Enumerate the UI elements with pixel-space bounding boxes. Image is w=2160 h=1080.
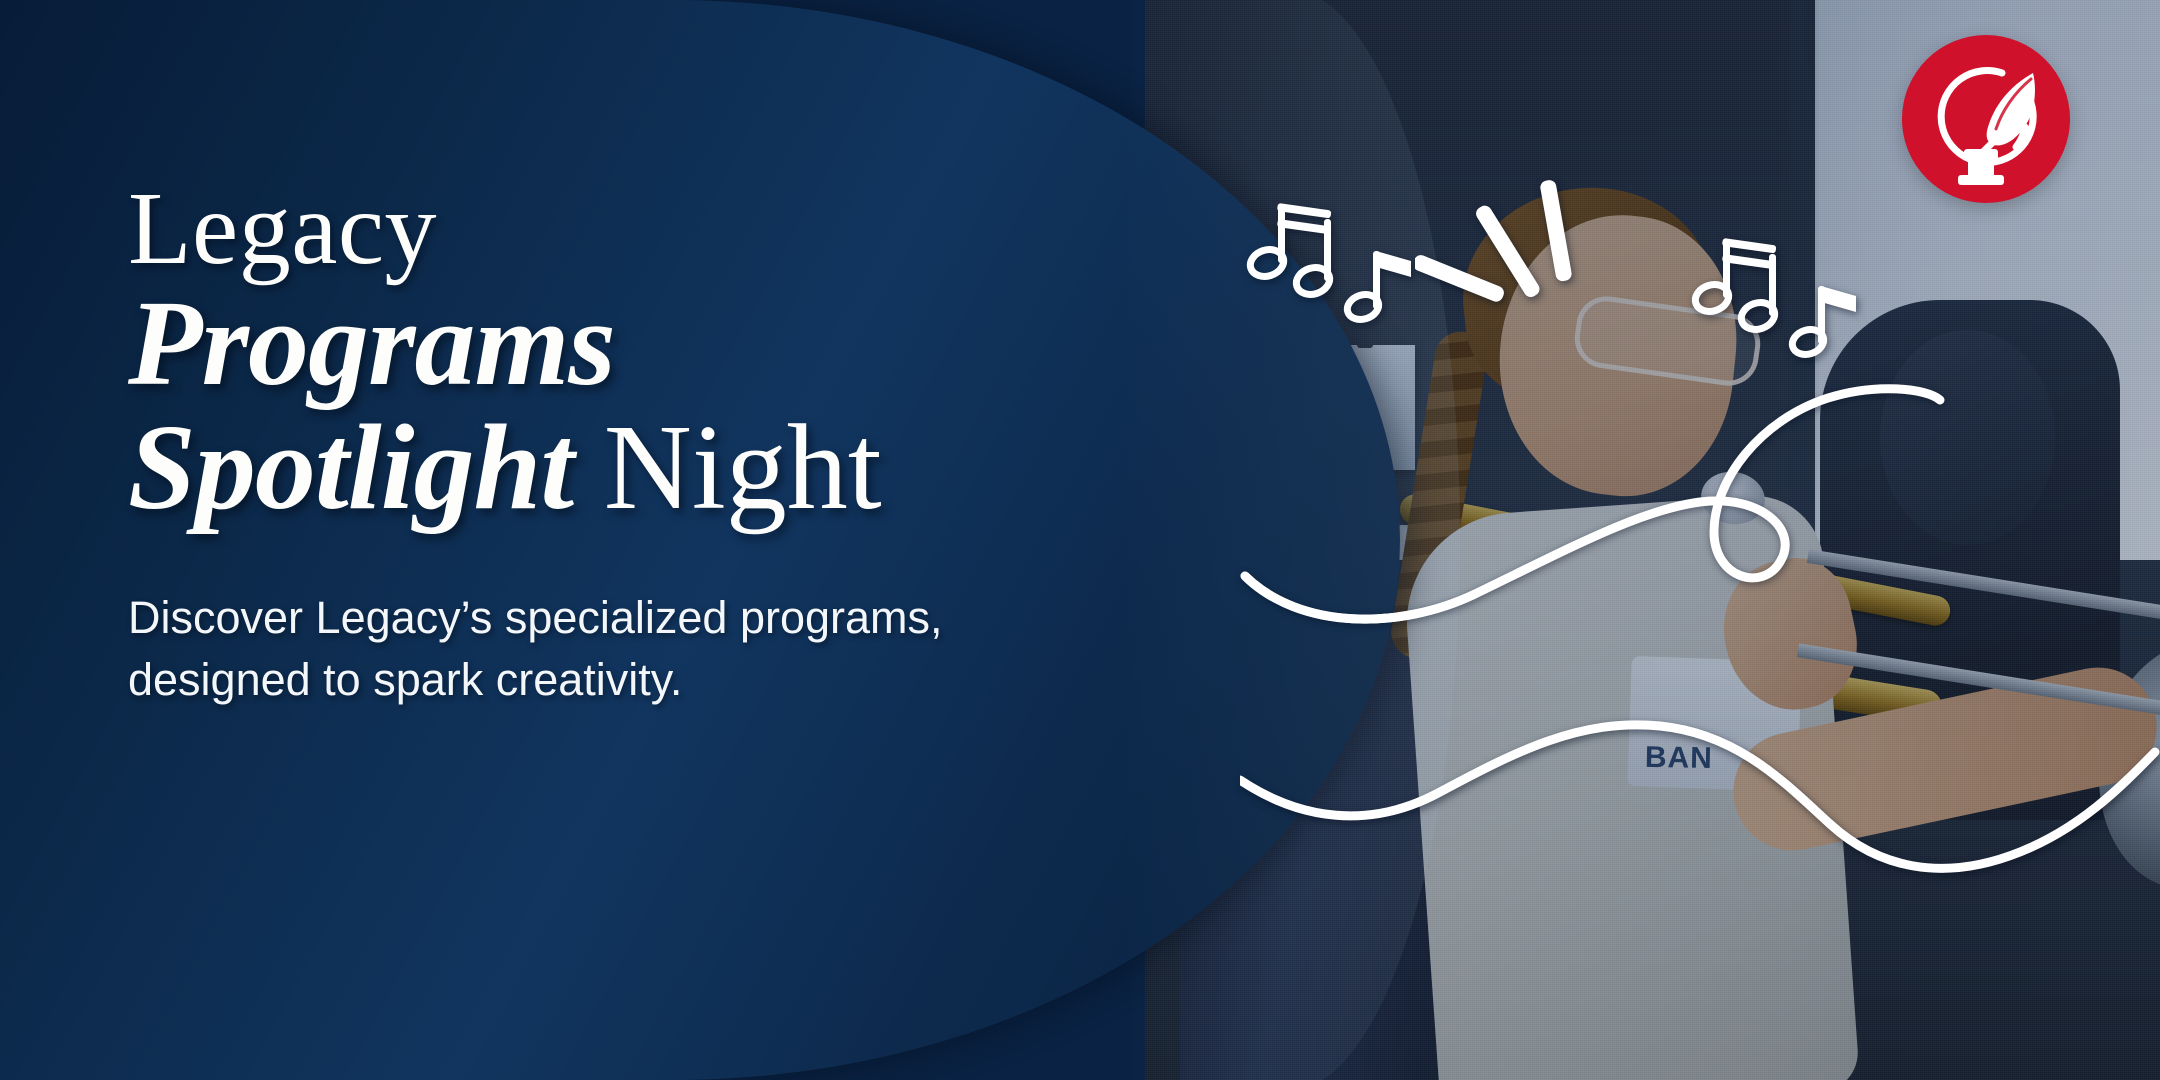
headline-line-2: Programs (128, 282, 1158, 406)
headline-night: Night (573, 400, 881, 535)
subtitle-block: Discover Legacy’s specialized programs, … (128, 587, 1158, 711)
headline-line-1: Legacy (128, 178, 1158, 280)
event-banner: BAN Legacy Programs Spotlight Night Disc… (0, 0, 2160, 1080)
quill-and-inkwell-logo[interactable] (1902, 35, 2070, 203)
headline-block: Legacy Programs Spotlight Night Discover… (128, 178, 1158, 711)
headline-line-2-text: Programs (128, 276, 615, 411)
subtitle-line-1: Discover Legacy’s specialized programs, (128, 587, 1158, 649)
headline-line-3: Spotlight Night (128, 406, 1158, 530)
headline-spotlight: Spotlight (128, 400, 573, 535)
subtitle-line-2: designed to spark creativity. (128, 649, 1158, 711)
